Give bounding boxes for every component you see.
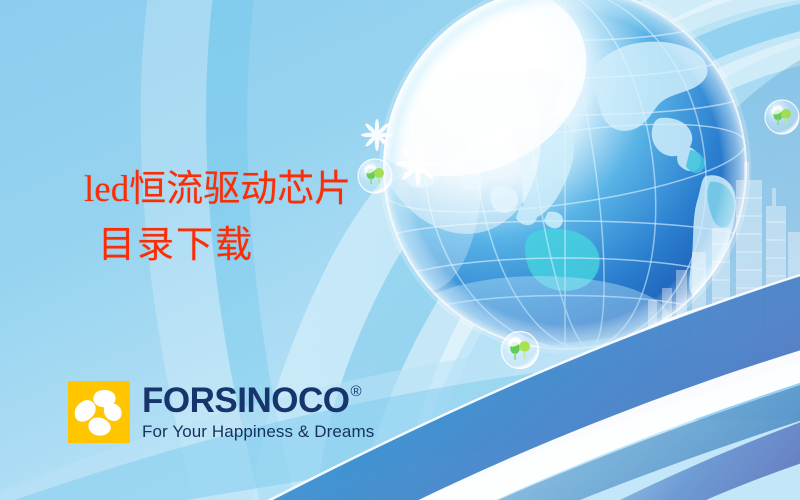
logo-wordmark: FORSINOCO ® For Your Happiness & Dreams (142, 383, 374, 442)
pinwheel-flower-icon (68, 381, 130, 443)
company-logo: FORSINOCO ® For Your Happiness & Dreams (68, 381, 374, 443)
headline-block: led恒流驱动芯片 目录下载 (84, 162, 504, 274)
pinwheel-flower-glyph (68, 381, 130, 443)
slide-canvas: led恒流驱动芯片 目录下载 FORSINOCO (0, 0, 800, 500)
white-flower-icon (361, 119, 393, 151)
bubble-with-trees-icon (765, 100, 799, 134)
brand-name: FORSINOCO (142, 383, 349, 418)
registered-trademark-icon: ® (350, 384, 361, 399)
brand-row: FORSINOCO ® (142, 383, 374, 418)
headline-line-2: 目录下载 (84, 218, 504, 274)
brand-tagline: For Your Happiness & Dreams (142, 422, 374, 442)
headline-line-1: led恒流驱动芯片 (84, 162, 504, 218)
bubble-with-trees-icon (502, 332, 539, 369)
